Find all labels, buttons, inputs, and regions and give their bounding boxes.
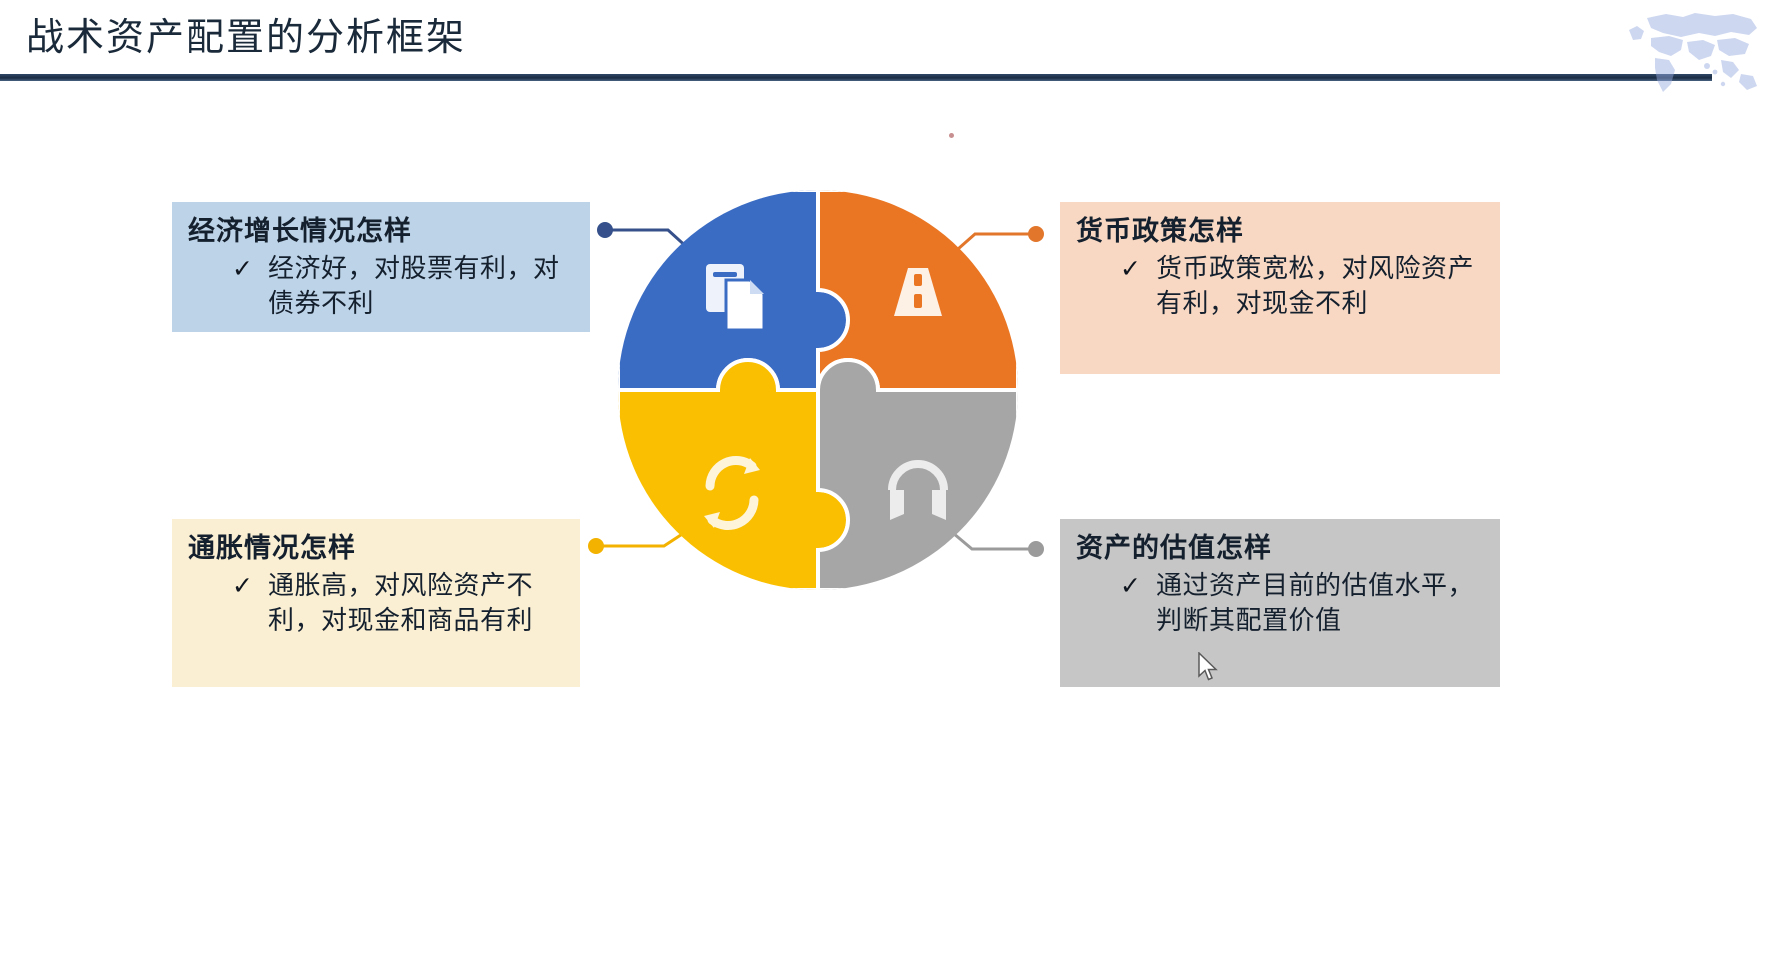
info-card-monetary[interactable]: 货币政策怎样 ✓ 货币政策宽松，对风险资产有利，对现金不利 xyxy=(1060,202,1500,374)
card-bullet-text-growth: 经济好，对股票有利，对债券不利 xyxy=(258,252,574,323)
puzzle-quadrant-valuation[interactable] xyxy=(818,360,1018,590)
card-bullet-monetary: ✓ 货币政策宽松，对风险资产有利，对现金不利 xyxy=(1076,252,1484,323)
check-icon: ✓ xyxy=(1120,569,1146,640)
card-bullet-growth: ✓ 经济好，对股票有利，对债券不利 xyxy=(188,252,574,323)
check-icon: ✓ xyxy=(232,252,258,323)
card-title-valuation: 资产的估值怎样 xyxy=(1076,533,1484,565)
info-card-inflation[interactable]: 通胀情况怎样 ✓ 通胀高，对风险资产不利，对现金和商品有利 xyxy=(172,519,580,687)
check-icon: ✓ xyxy=(232,569,258,640)
card-bullet-text-valuation: 通过资产目前的估值水平，判断其配置价值 xyxy=(1146,569,1484,640)
card-title-inflation: 通胀情况怎样 xyxy=(188,533,564,565)
card-title-growth: 经济增长情况怎样 xyxy=(188,216,574,248)
card-bullet-valuation: ✓ 通过资产目前的估值水平，判断其配置价值 xyxy=(1076,569,1484,640)
info-card-growth[interactable]: 经济增长情况怎样 ✓ 经济好，对股票有利，对债券不利 xyxy=(172,202,590,332)
slide-canvas: 战术资产配置的分析框架 xyxy=(0,0,1767,964)
card-title-monetary: 货币政策怎样 xyxy=(1076,216,1484,248)
card-bullet-text-inflation: 通胀高，对风险资产不利，对现金和商品有利 xyxy=(258,569,564,640)
world-map-icon xyxy=(1611,0,1761,96)
page-title: 战术资产配置的分析框架 xyxy=(26,6,466,61)
check-icon: ✓ xyxy=(1120,252,1146,323)
slide-header: 战术资产配置的分析框架 xyxy=(0,0,1767,92)
info-card-valuation[interactable]: 资产的估值怎样 ✓ 通过资产目前的估值水平，判断其配置价值 xyxy=(1060,519,1500,687)
card-bullet-inflation: ✓ 通胀高，对风险资产不利，对现金和商品有利 xyxy=(188,569,564,640)
card-bullet-text-monetary: 货币政策宽松，对风险资产有利，对现金不利 xyxy=(1146,252,1484,323)
mouse-pointer-icon xyxy=(1197,652,1219,684)
title-underline-rule xyxy=(0,74,1712,81)
puzzle-circle-diagram xyxy=(618,190,1018,590)
stray-dot-artifact xyxy=(949,133,954,138)
puzzle-quadrant-growth[interactable] xyxy=(618,190,848,390)
puzzle-quadrant-inflation[interactable] xyxy=(618,360,848,590)
page-bottom-area xyxy=(0,851,1767,964)
